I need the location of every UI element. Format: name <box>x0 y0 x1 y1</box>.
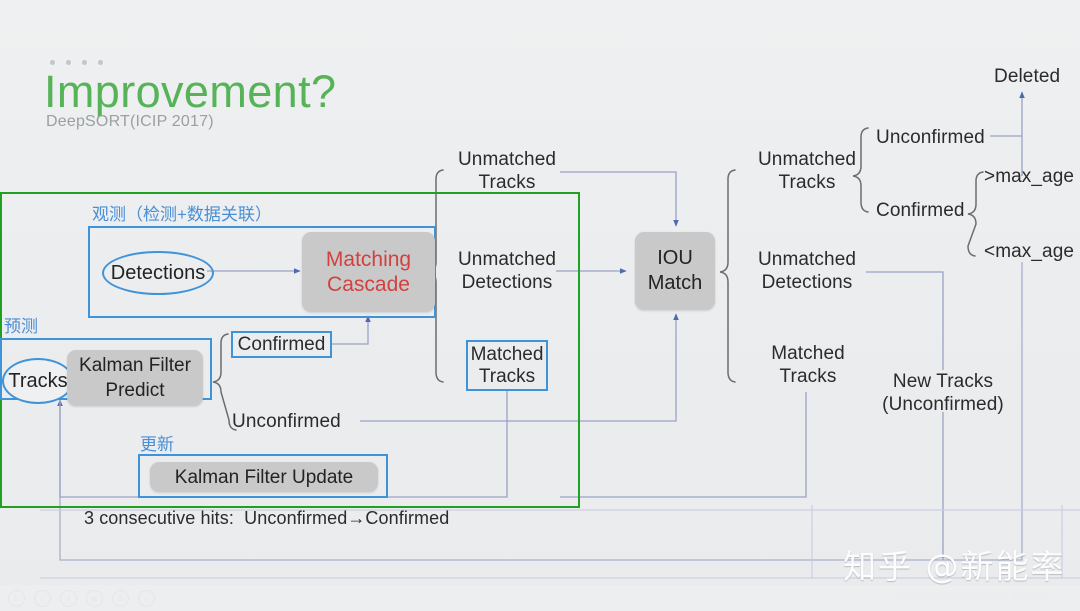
new-tracks-label: New Tracks (Unconfirmed) <box>866 370 1020 416</box>
prediction-annotation: 预测 <box>4 312 38 337</box>
info-icon[interactable]: ℹ <box>60 590 77 607</box>
camera-icon[interactable]: ▣ <box>86 590 103 607</box>
unmatched-detections-mid-label: Unmatched Detections <box>446 248 568 294</box>
unmatched-tracks-right-label: Unmatched Tracks <box>748 148 866 194</box>
unconfirmed-right-label: Unconfirmed <box>876 126 985 149</box>
update-annotation: 更新 <box>140 430 174 455</box>
slide-dots-decoration <box>50 60 103 65</box>
observation-annotation: 观测（检测+数据关联） <box>92 200 272 225</box>
max-age-less-label: <max_age <box>984 240 1074 263</box>
fullscreen-icon[interactable]: ↔ <box>138 590 155 607</box>
settings-icon[interactable]: ⚙ <box>112 590 129 607</box>
slide-canvas: Improvement? DeepSORT(ICIP 2017) 观测（检测+数… <box>0 0 1080 611</box>
replay-icon[interactable]: ↻ <box>8 590 25 607</box>
unmatched-tracks-mid-label: Unmatched Tracks <box>450 148 564 194</box>
tracks-node[interactable]: Tracks <box>2 358 74 404</box>
home-icon[interactable]: ⌂ <box>34 590 51 607</box>
confirmed-right-label: Confirmed <box>876 199 965 222</box>
kalman-filter-predict-node[interactable]: Kalman Filter Predict <box>67 350 203 406</box>
matching-cascade-node[interactable]: Matching Cascade <box>302 232 435 312</box>
detections-node[interactable]: Detections <box>102 251 214 295</box>
page-subtitle: DeepSORT(ICIP 2017) <box>46 113 214 131</box>
unconfirmed-left-node: Unconfirmed <box>232 410 341 433</box>
kalman-filter-update-node[interactable]: Kalman Filter Update <box>150 462 378 492</box>
matched-tracks-right-label: Matched Tracks <box>766 342 850 388</box>
unmatched-detections-right-label: Unmatched Detections <box>745 248 869 294</box>
video-player-toolbar[interactable]: ↻ ⌂ ℹ ▣ ⚙ ↔ <box>0 585 1080 611</box>
page-title: Improvement? <box>44 66 336 118</box>
confirmed-left-node[interactable]: Confirmed <box>231 331 332 358</box>
footnote-text: 3 consecutive hits: Unconfirmed→Confirme… <box>84 507 449 530</box>
watermark: 知乎 @新能率 <box>843 540 1066 588</box>
iou-match-node[interactable]: IOU Match <box>635 232 715 310</box>
max-age-greater-label: >max_age <box>984 165 1074 188</box>
matched-tracks-mid-node[interactable]: Matched Tracks <box>466 340 548 391</box>
deleted-label: Deleted <box>994 65 1060 88</box>
